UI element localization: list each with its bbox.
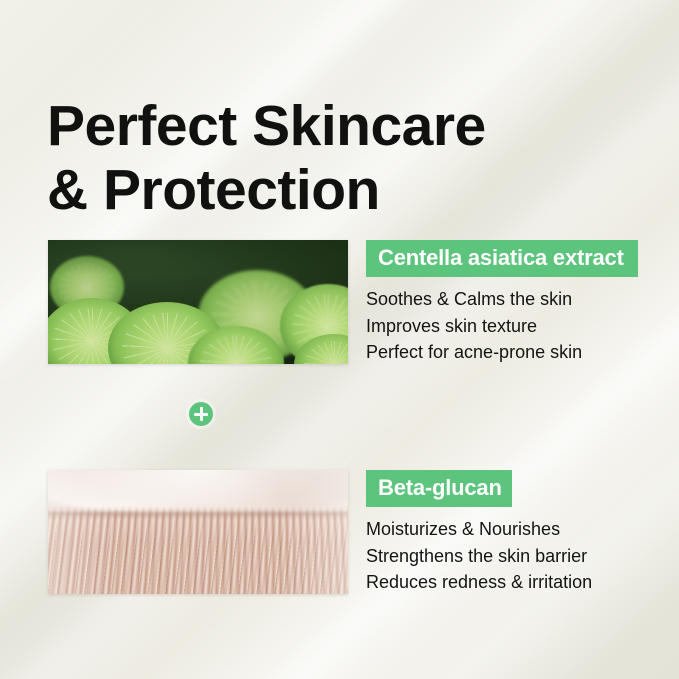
infographic-poster: Perfect Skincare & Protection Centella a… [0, 0, 679, 679]
ingredient-name-banner-centella: Centella asiatica extract [366, 240, 638, 277]
plus-icon [189, 402, 213, 426]
page-title-line-1: Perfect Skincare [47, 95, 647, 159]
beta-glucan-text-column: Beta-glucan Moisturizes & Nourishes Stre… [366, 470, 679, 596]
page-title-line-2: & Protection [47, 159, 647, 223]
benefit-item: Perfect for acne-prone skin [366, 339, 679, 366]
page-title: Perfect Skincare & Protection [47, 95, 647, 223]
gill-scene [48, 470, 348, 594]
benefit-item: Improves skin texture [366, 313, 679, 340]
ingredient-name-banner-beta-glucan: Beta-glucan [366, 470, 512, 507]
benefit-item: Moisturizes & Nourishes [366, 516, 679, 543]
centella-benefit-list: Soothes & Calms the skin Improves skin t… [366, 286, 679, 366]
centella-leaves-photo [48, 240, 348, 364]
leaf-scene [48, 240, 348, 364]
benefit-item: Reduces redness & irritation [366, 569, 679, 596]
benefit-item: Strengthens the skin barrier [366, 543, 679, 570]
mushroom-gills-photo [48, 470, 348, 594]
beta-glucan-benefit-list: Moisturizes & Nourishes Strengthens the … [366, 516, 679, 596]
photo-highlight [48, 470, 348, 594]
plus-icon-vertical-bar [200, 407, 203, 421]
benefit-item: Soothes & Calms the skin [366, 286, 679, 313]
centella-text-column: Centella asiatica extract Soothes & Calm… [366, 240, 679, 366]
photo-vignette [48, 240, 348, 364]
